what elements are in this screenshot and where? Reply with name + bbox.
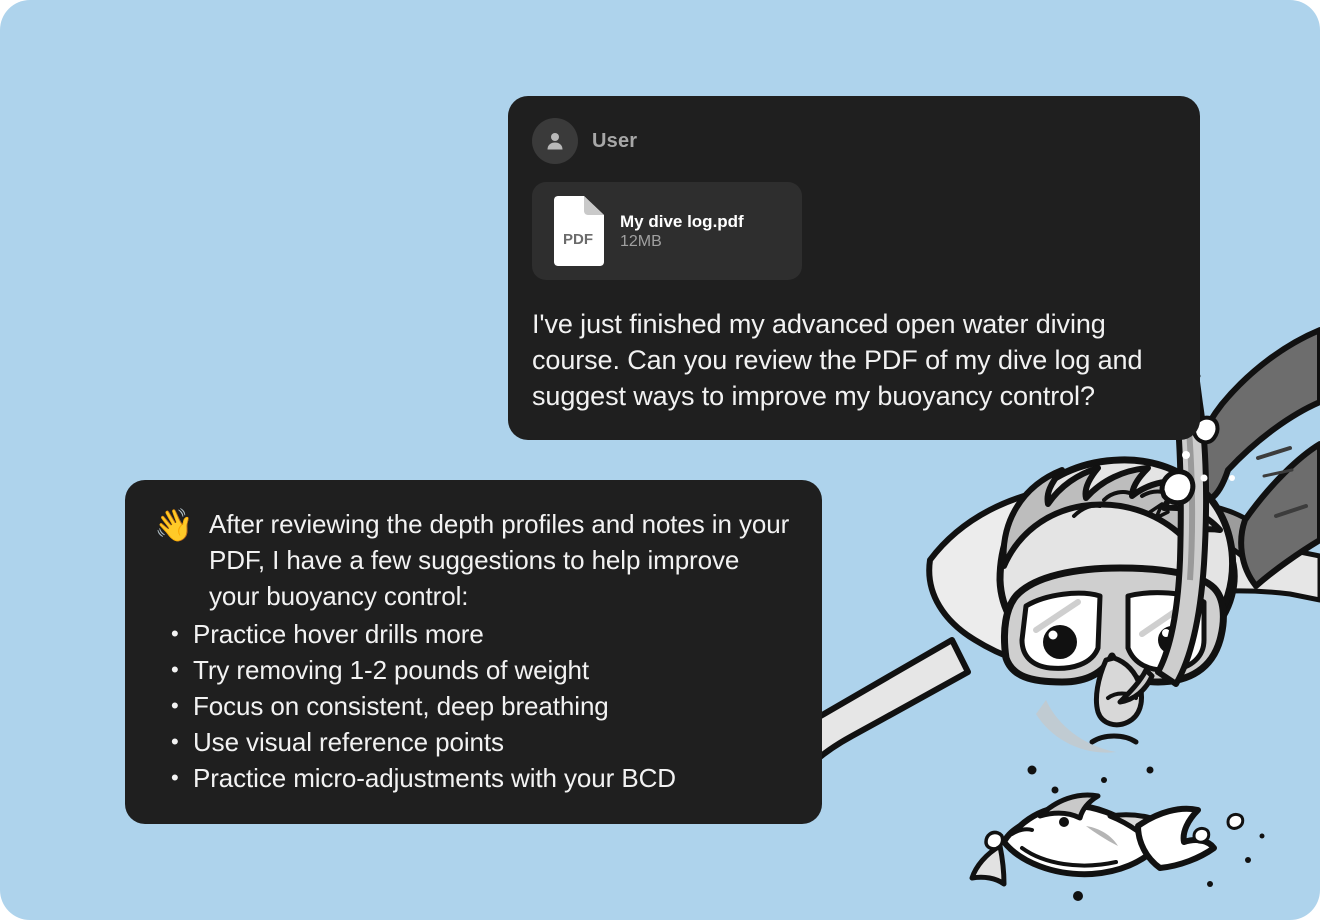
attachment-filename: My dive log.pdf xyxy=(620,212,744,231)
user-message-text: I've just finished my advanced open wate… xyxy=(532,306,1176,414)
bubbles-group xyxy=(986,380,1265,902)
person-icon xyxy=(532,118,578,164)
page-root: User PDF My dive log.pdf 12MB I've just … xyxy=(0,0,1320,920)
assistant-message-bubble: 👋 After reviewing the depth profiles and… xyxy=(125,480,822,824)
user-message-bubble: User PDF My dive log.pdf 12MB I've just … xyxy=(508,96,1200,440)
list-item: Focus on consistent, deep breathing xyxy=(151,688,796,724)
assistant-intro-text: After reviewing the depth profiles and n… xyxy=(209,506,796,614)
assistant-intro-row: 👋 After reviewing the depth profiles and… xyxy=(151,506,796,614)
list-item: Use visual reference points xyxy=(151,724,796,760)
attachment-card-pdf[interactable]: PDF My dive log.pdf 12MB xyxy=(532,182,802,280)
fish-illustration xyxy=(972,795,1214,884)
pdf-file-icon: PDF xyxy=(548,196,604,266)
list-item: Try removing 1-2 pounds of weight xyxy=(151,652,796,688)
user-name-label: User xyxy=(592,130,637,153)
suggestions-list: Practice hover drills more Try removing … xyxy=(151,616,796,796)
attachment-meta: My dive log.pdf 12MB xyxy=(620,211,786,250)
svg-text:PDF: PDF xyxy=(563,231,593,248)
user-header: User xyxy=(532,118,1176,164)
waving-hand-emoji: 👋 xyxy=(151,506,197,544)
list-item: Practice micro-adjustments with your BCD xyxy=(151,760,796,796)
list-item: Practice hover drills more xyxy=(151,616,796,652)
attachment-filesize: 12MB xyxy=(620,233,662,250)
